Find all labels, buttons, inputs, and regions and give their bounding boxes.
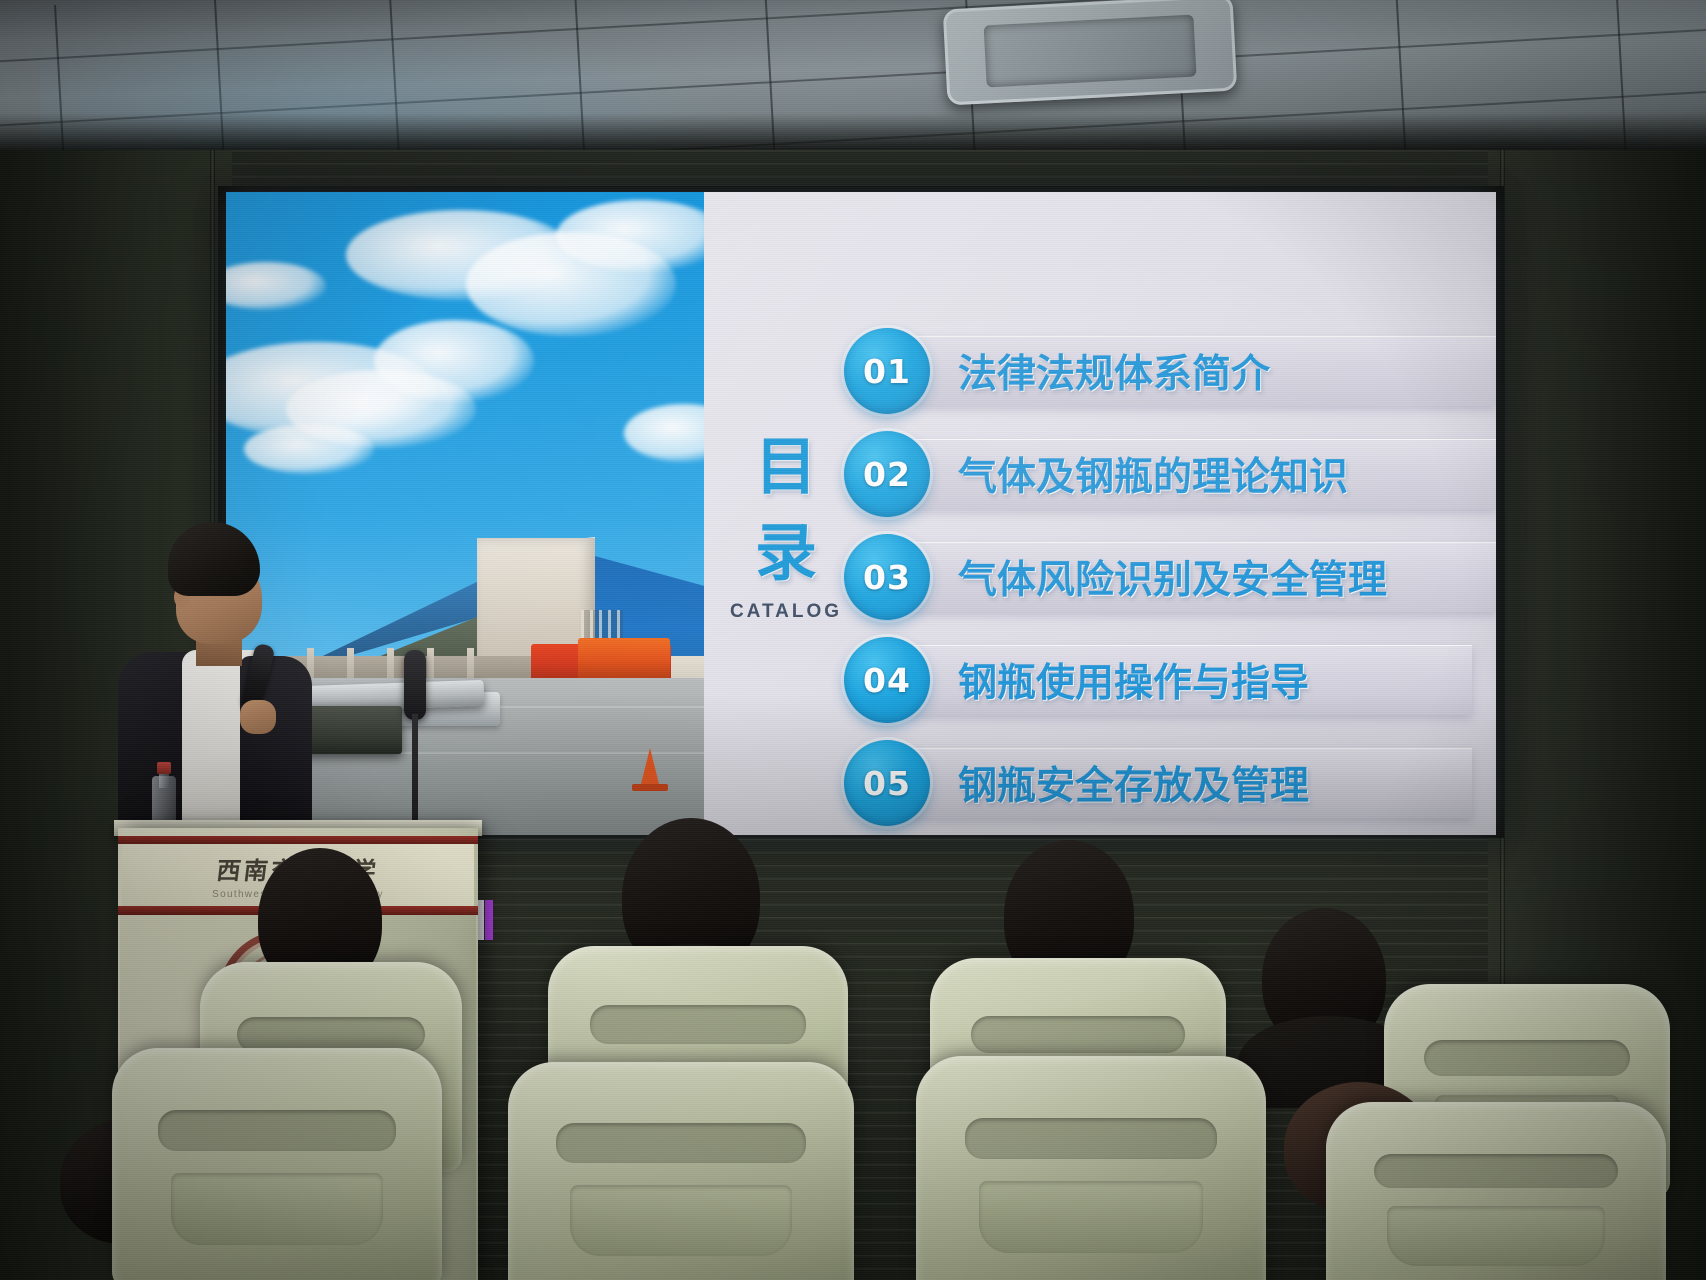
toc-number: 05 xyxy=(863,764,911,803)
presenter xyxy=(112,522,322,852)
podium-accent-bottom xyxy=(118,906,478,915)
traffic-cone-base xyxy=(632,784,668,791)
table-of-contents: 01 法律法规体系简介 02 气体及钢瓶的理论知识 03 气体 xyxy=(844,328,1496,835)
toc-label: 气体及钢瓶的理论知识 xyxy=(958,446,1348,502)
podium-university-name-cn: 西南交通大学 xyxy=(215,851,381,886)
toc-number: 02 xyxy=(863,455,911,494)
catalog-heading: 目 录 CATALOG xyxy=(726,424,846,623)
toc-number-badge: 05 xyxy=(844,740,930,826)
podium-accent-top xyxy=(118,836,478,844)
catalog-char-2: 录 xyxy=(726,510,846,596)
toc-label: 钢瓶安全存放及管理 xyxy=(958,755,1309,811)
toc-number-badge: 03 xyxy=(844,534,930,620)
toc-number: 03 xyxy=(863,558,911,597)
toc-item-01: 01 法律法规体系简介 xyxy=(844,328,1496,414)
podium-university-name-en: Southwest Jiaotong University xyxy=(212,889,384,900)
ac-vent-icon xyxy=(943,0,1238,106)
microphone-stand-head xyxy=(404,650,426,720)
ceiling xyxy=(0,0,1706,175)
presenter-hair xyxy=(168,522,260,596)
toc-number: 04 xyxy=(863,661,911,700)
toc-number-badge: 02 xyxy=(844,431,930,517)
university-emblem xyxy=(218,930,352,1064)
toc-label: 钢瓶使用操作与指导 xyxy=(958,652,1309,708)
traffic-cone-icon xyxy=(640,748,660,788)
catalog-char-1: 目 xyxy=(726,424,846,510)
presentation-room-photo: 目 录 CATALOG 01 法律法规体系简介 02 xyxy=(0,0,1706,1280)
toc-item-05: 05 钢瓶安全存放及管理 xyxy=(844,740,1496,826)
toc-label: 法律法规体系简介 xyxy=(958,343,1270,399)
toc-label: 气体风险识别及安全管理 xyxy=(958,549,1387,605)
podium-nameplate: 西南交通大学 Southwest Jiaotong University xyxy=(122,844,474,906)
toc-number-badge: 04 xyxy=(844,637,930,723)
presenter-hand xyxy=(240,700,276,734)
toc-number: 01 xyxy=(863,352,911,391)
catalog-subtitle: CATALOG xyxy=(726,601,846,623)
wall-right-panel xyxy=(1488,150,1706,1280)
water-bottle xyxy=(152,758,176,828)
toc-item-02: 02 气体及钢瓶的理论知识 xyxy=(844,431,1496,517)
red-freight-wagon-2 xyxy=(578,638,670,680)
toc-item-04: 04 钢瓶使用操作与指导 xyxy=(844,637,1496,723)
toc-number-badge: 01 xyxy=(844,328,930,414)
toc-item-03: 03 气体风险识别及安全管理 xyxy=(844,534,1496,620)
